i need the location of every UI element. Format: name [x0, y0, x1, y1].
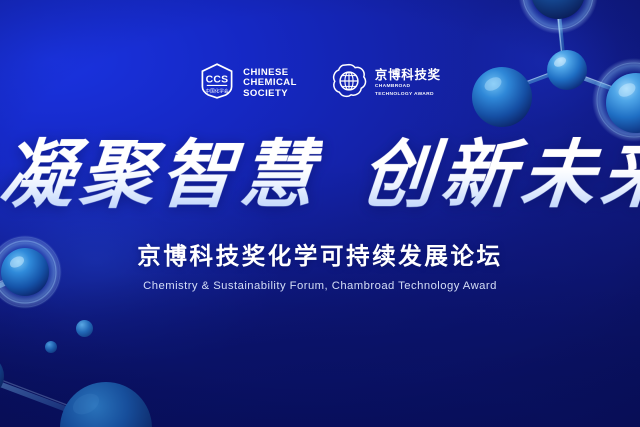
chambroad-name-en-line-1: CHAMBROAD: [375, 84, 441, 90]
globe-emblem-icon: [331, 63, 367, 104]
sphere-particle-icon-upper: [76, 320, 93, 337]
subtitle-chinese: 京博科技奖化学可持续发展论坛: [0, 242, 640, 270]
ccs-mark-subtext: 中国化学会: [206, 87, 229, 94]
page-title: 凝聚智慧 创新未来: [0, 132, 640, 218]
molecule-icon-bottom-left: [0, 356, 180, 427]
event-poster: CCS 中国化学会 CHINESE CHEMICAL SOCIETY: [0, 0, 640, 427]
subtitle-english: Chemistry & Sustainability Forum, Chambr…: [0, 279, 640, 293]
logo-row: CCS 中国化学会 CHINESE CHEMICAL SOCIETY: [0, 62, 640, 105]
logo-chinese-chemical-society: CCS 中国化学会 CHINESE CHEMICAL SOCIETY: [199, 62, 297, 105]
chambroad-name-en-line-2: TECHNOLOGY AWARD: [375, 92, 441, 98]
ccs-name-line-3: SOCIETY: [243, 89, 297, 100]
headline-part-two: 创新未来: [357, 132, 640, 218]
chambroad-name-cn: 京博科技奖: [375, 69, 441, 82]
sphere-particle-icon-lower: [45, 341, 57, 353]
logo-chambroad-technology-award: 京博科技奖 CHAMBROAD TECHNOLOGY AWARD: [331, 63, 441, 104]
ccs-hexagon-shield-icon: CCS 中国化学会: [199, 62, 235, 105]
headline-part-one: 凝聚智慧: [0, 132, 324, 218]
ccs-wordmark: CHINESE CHEMICAL SOCIETY: [243, 68, 297, 100]
ccs-mark-text: CCS: [206, 75, 229, 86]
chambroad-wordmark: 京博科技奖 CHAMBROAD TECHNOLOGY AWARD: [375, 69, 441, 97]
